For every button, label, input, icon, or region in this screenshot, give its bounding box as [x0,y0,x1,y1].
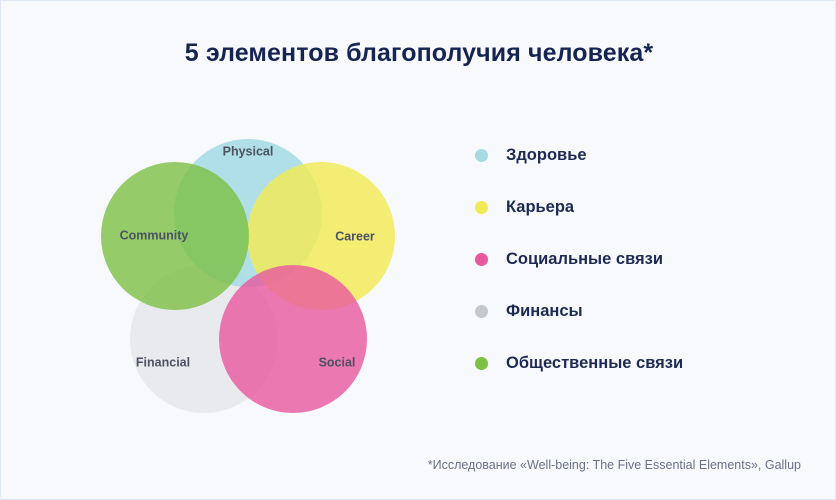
legend-item-health: Здоровье [475,129,815,181]
legend-item-label: Социальные связи [506,250,663,269]
legend-item-community: Общественные связи [475,337,815,389]
legend-item-career: Карьера [475,181,815,233]
legend-dot-icon [475,357,488,370]
legend-dot-icon [475,201,488,214]
legend-dot-icon [475,149,488,162]
legend-item-social: Социальные связи [475,233,815,285]
legend-dot-icon [475,305,488,318]
legend: Здоровье Карьера Социальные связи Финанс… [475,129,815,389]
legend-item-label: Карьера [506,198,574,217]
venn-label-social: Social [319,355,356,369]
footnote: *Исследование «Well-being: The Five Esse… [428,458,801,472]
infographic-card: 5 элементов благополучия человека* Physi… [0,0,836,500]
venn-label-financial: Financial [136,355,190,369]
venn-circles [101,139,395,413]
legend-dot-icon [475,253,488,266]
venn-label-physical: Physical [223,144,274,158]
venn-label-career: Career [335,229,375,243]
venn-label-community: Community [120,228,189,242]
venn-circle-social [219,265,367,413]
legend-item-label: Общественные связи [506,354,683,373]
legend-item-label: Здоровье [506,146,587,165]
legend-item-financial: Финансы [475,285,815,337]
venn-diagram: Physical Career Social Financial Communi… [97,107,401,421]
page-title: 5 элементов благополучия человека* [1,39,836,68]
legend-item-label: Финансы [506,302,583,321]
